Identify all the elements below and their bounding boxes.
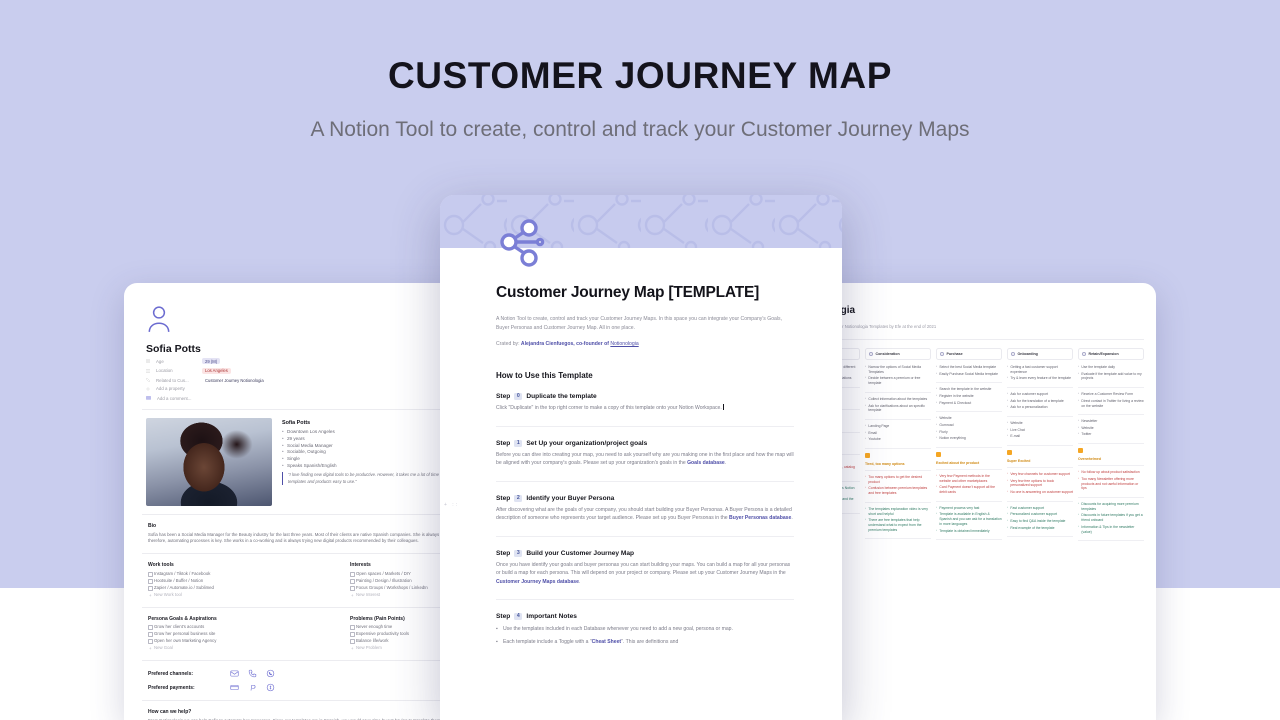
column-label: Onboarding — [1018, 352, 1038, 356]
emotion-label: Overwhelmed — [1078, 457, 1144, 461]
property-key: Related to Cus... — [156, 378, 196, 383]
cart-icon — [940, 352, 944, 356]
list-item[interactable]: Hootsuite / Buffer / Notion — [148, 578, 328, 583]
list-item: Flurly — [936, 430, 1002, 435]
list-item[interactable]: Grow her client's accounts — [148, 624, 328, 629]
step-header: Step 4 Important Notes — [496, 613, 794, 621]
list-item: Confusion between premium templates and … — [865, 486, 931, 496]
note-prefix: Each template include a Toggle with a " — [503, 639, 592, 645]
list-item: Fast customer support — [1007, 506, 1073, 511]
important-notes-list: Use the templates included in each Datab… — [496, 625, 794, 646]
phone-icon[interactable] — [248, 669, 257, 678]
list-item: Easy to find Q&A inside the template — [1007, 519, 1073, 524]
search-icon — [869, 352, 873, 356]
column-label: Purchase — [947, 352, 963, 356]
list-item: Website — [1007, 421, 1073, 426]
journey-board: Awareness Know about the options of the … — [794, 348, 1144, 545]
credit-author: Alejandra Cienfuegos, co-founder of — [521, 341, 609, 347]
emoji-icon — [936, 452, 941, 457]
list-item: No follow up about product satisfaction — [1078, 470, 1144, 475]
step-header: Step 1 Set Up your organization/project … — [496, 440, 794, 448]
whatsapp-icon[interactable] — [266, 669, 275, 678]
list-item: Search the template in the website — [936, 387, 1002, 392]
list-item: Real example of the template — [1007, 526, 1073, 531]
property-value: Customer Journey Notionologia — [202, 377, 267, 383]
cheat-sheet-link[interactable]: Cheat Sheet — [592, 639, 621, 645]
list-item: There are free templates that help under… — [865, 518, 931, 532]
list-item: Easily Purchase Social Media template — [936, 372, 1002, 377]
cell-goals[interactable]: Getting a fast customer support experien… — [1007, 365, 1073, 388]
step-word: Step — [496, 613, 510, 620]
step-header: Step 2 Identify your Buyer Persona — [496, 495, 794, 503]
hero-header: CUSTOMER JOURNEY MAP A Notion Tool to cr… — [0, 0, 1280, 142]
list-item: The templates explanation video is very … — [865, 507, 931, 517]
add-property-label: Add a property — [156, 386, 196, 391]
cell-goals[interactable]: Select the best Social Media template Ea… — [936, 365, 1002, 383]
cell-channels[interactable]: Website Live Chat E-mail — [1007, 421, 1073, 446]
paypal-icon[interactable] — [248, 683, 257, 692]
step-1: Step 1 Set Up your organization/project … — [496, 440, 794, 482]
list-item: Select the best Social Media template — [936, 365, 1002, 370]
step-body: After discovering what are the goals of … — [496, 506, 794, 523]
list-item: Very few Payment methods in the website … — [936, 474, 1002, 484]
cell-pain-points[interactable]: No follow up about product satisfaction … — [1078, 470, 1144, 498]
list-item: Try & learn every feature of the templat… — [1007, 376, 1073, 381]
how-to-heading: How to Use this Template — [496, 371, 794, 380]
template-title: Customer Journey Map [TEMPLATE] — [496, 284, 794, 302]
list-item[interactable]: Zapier / Automate.io / Sublimed — [148, 585, 328, 590]
step-header: Step 0 Duplicate the template — [496, 393, 794, 401]
cell-actions[interactable]: Search the template in the website Regis… — [936, 387, 1002, 412]
property-key: Location — [156, 368, 196, 373]
person-icon — [146, 305, 172, 333]
emotion-label: Excited about the product — [936, 461, 1002, 465]
step-title: Build your Customer Journey Map — [526, 550, 634, 557]
column-label: Retain/Expansion — [1089, 352, 1119, 356]
step-4: Step 4 Important Notes Use the templates… — [496, 613, 794, 647]
list-item: Each template include a Toggle with a "C… — [496, 638, 794, 646]
list-item: Payment process very fast — [936, 506, 1002, 511]
board-column-purchase: Purchase Select the best Social Media te… — [936, 348, 1002, 545]
cell-emotion[interactable]: Excited about the product — [936, 452, 1002, 470]
step-0: Step 0 Duplicate the template Click "Dup… — [496, 393, 794, 427]
template-description: A Notion Tool to create, control and tra… — [496, 315, 794, 333]
persona-photo — [146, 418, 272, 506]
emoji-icon — [1078, 448, 1083, 453]
list-item: Notion everything — [936, 436, 1002, 441]
step-title: Important Notes — [526, 613, 577, 620]
cell-emotion[interactable]: Tired, too many options — [865, 453, 931, 471]
step-number: 0 — [514, 393, 522, 400]
list-item: Register in the website — [936, 394, 1002, 399]
cell-opportunities[interactable]: Fast customer support Personalized custo… — [1007, 506, 1073, 538]
list-item: Gumroad — [936, 423, 1002, 428]
list-item: Website — [1078, 426, 1144, 431]
list-item: Collect information about the templates — [865, 397, 931, 402]
cell-channels[interactable]: Website Gumroad Flurly Notion everything — [936, 416, 1002, 448]
property-value: 29 (M) — [202, 358, 220, 364]
list-item: Personalized customer support — [1007, 512, 1073, 517]
list-item: Very few channels for customer support — [1007, 472, 1073, 477]
preferred-payments-label: Prefered payments: — [148, 685, 222, 691]
step-body-text: Once you have identify your goals and bu… — [496, 562, 790, 576]
list-item: Too many Newsletter offering more produc… — [1078, 477, 1144, 491]
step-body-tail: . — [725, 460, 726, 466]
step-body: Once you have identify your goals and bu… — [496, 561, 794, 586]
cell-channels[interactable]: Newsletter Website Twitter — [1078, 419, 1144, 444]
list-item: Use the template daily — [1078, 365, 1144, 370]
credit-prefix: Crated by: — [496, 341, 520, 347]
card-icon[interactable] — [230, 683, 239, 692]
list-item: Template is available in English & Spani… — [936, 512, 1002, 526]
cell-emotion[interactable]: Super Excited — [1007, 450, 1073, 468]
cell-channels[interactable]: Landing Page Email Youtube — [865, 424, 931, 449]
credit-link[interactable]: Notionologia — [610, 341, 638, 347]
hash-icon — [146, 359, 150, 363]
list-item: Ask for customer support — [1007, 392, 1073, 397]
refresh-icon — [1082, 352, 1086, 356]
list-item: Payment & Checkout — [936, 401, 1002, 406]
emoji-icon — [1007, 450, 1012, 455]
cell-emotion[interactable]: Overwhelmed — [1078, 448, 1144, 466]
emotion-label: Super Excited — [1007, 459, 1073, 463]
page-side-handle[interactable]: + :: — [444, 502, 459, 508]
add-comment-placeholder: Add a comment... — [157, 396, 191, 401]
list-item: Direct contact in Twitter for living a r… — [1078, 399, 1144, 409]
list-icon — [146, 369, 150, 373]
column-header[interactable]: Onboarding — [1007, 348, 1073, 360]
step-3: Step 3 Build your Customer Journey Map O… — [496, 550, 794, 600]
step-title: Set Up your organization/project goals — [526, 440, 647, 447]
template-page-card[interactable]: Customer Journey Map [TEMPLATE] A Notion… — [440, 195, 842, 720]
column-heading: Persona Goals & Aspirations — [148, 616, 328, 622]
step-body-tail: . — [791, 515, 792, 521]
column-heading: Work tools — [148, 562, 328, 568]
cell-goals[interactable]: Narrow the options of Social Media Templ… — [865, 365, 931, 393]
list-item: Ask for a personalization — [1007, 405, 1073, 410]
step-body-tail: . — [579, 579, 580, 585]
step-body-text: Before you can dive into creating your m… — [496, 452, 794, 466]
plus-icon — [146, 387, 150, 391]
work-tools-column: Work tools Instagram / Tiktok / Facebook… — [148, 562, 328, 599]
template-credit: Crated by: Alejandra Cienfuegos, co-foun… — [496, 341, 794, 347]
list-item[interactable]: Open her own Marketing Agency — [148, 638, 328, 643]
list-item: Card Payment doesn't support all the deb… — [936, 485, 1002, 495]
text-cursor — [723, 404, 724, 410]
list-item: Landing Page — [865, 424, 931, 429]
list-item: Template is obtained immediately — [936, 529, 1002, 534]
list-item: Decide between a premium or free templat… — [865, 376, 931, 386]
list-item: Twitter — [1078, 432, 1144, 437]
column-header[interactable]: Purchase — [936, 348, 1002, 360]
list-item[interactable]: Instagram / Tiktok / Facebook — [148, 571, 328, 576]
step-number: 3 — [514, 550, 522, 557]
list-item: No one is answering on customer support — [1007, 490, 1073, 495]
link-icon — [146, 378, 150, 382]
gear-icon — [1011, 352, 1015, 356]
divider — [496, 426, 794, 427]
step-header: Step 3 Build your Customer Journey Map — [496, 550, 794, 558]
board-title: Notionologia — [794, 305, 1144, 316]
list-item: E-mail — [1007, 434, 1073, 439]
board-subtitle: Customer Journey Map for Notionologia Te… — [794, 324, 1144, 329]
step-word: Step — [496, 550, 510, 557]
list-item: Too many options to get the desired prod… — [865, 475, 931, 485]
cell-pain-points[interactable]: Very few Payment methods in the website … — [936, 474, 1002, 502]
property-value: Los Angeles — [202, 368, 231, 374]
column-header[interactable]: Consideration — [865, 348, 931, 360]
column-header[interactable]: Retain/Expansion — [1078, 348, 1144, 360]
cell-pain-points[interactable]: Very few channels for customer support V… — [1007, 472, 1073, 502]
list-item: Website — [936, 416, 1002, 421]
cell-goals[interactable]: Use the template daily Evaluate if the t… — [1078, 365, 1144, 388]
list-item: Receive a Customer Review Form — [1078, 392, 1144, 397]
list-item: Very few free options to book personaliz… — [1007, 479, 1073, 489]
page-subtitle: A Notion Tool to create, control and tra… — [0, 118, 1280, 142]
page-title: CUSTOMER JOURNEY MAP — [0, 55, 1280, 97]
cell-opportunities[interactable]: Payment process very fast Template is av… — [936, 506, 1002, 541]
add-work-tool[interactable]: New Work tool — [148, 592, 328, 597]
list-item: Ask for the translation of a template — [1007, 399, 1073, 404]
cell-actions[interactable]: Receive a Customer Review Form Direct co… — [1078, 392, 1144, 415]
list-item: Newsletter — [1078, 419, 1144, 424]
note-suffix: ". This are definitions and — [621, 639, 678, 645]
step-number: 1 — [514, 440, 522, 447]
list-item: Evaluate if the template add value to my… — [1078, 372, 1144, 382]
buyer-personas-database-link[interactable]: Buyer Personas database — [729, 515, 791, 521]
add-goal[interactable]: New Goal — [148, 645, 328, 650]
divider — [794, 339, 1144, 340]
list-item[interactable]: Grow her personal business site — [148, 631, 328, 636]
step-body: Click "Duplicate" in the top right corne… — [496, 404, 794, 412]
emotion-label: Tired, too many options — [865, 462, 931, 466]
list-item: Narrow the options of Social Media Templ… — [865, 365, 931, 375]
cell-pain-points[interactable]: Too many options to get the desired prod… — [865, 475, 931, 503]
step-number: 4 — [514, 613, 522, 620]
goals-database-link[interactable]: Goals database — [687, 460, 725, 466]
goals-column: Persona Goals & Aspirations Grow her cli… — [148, 616, 328, 653]
cell-opportunities[interactable]: The templates explanation video is very … — [865, 507, 931, 540]
list-item: Use the templates included in each Datab… — [496, 625, 794, 633]
emoji-icon — [865, 453, 870, 458]
list-item: Live Chat — [1007, 428, 1073, 433]
step-word: Step — [496, 495, 510, 502]
divider — [496, 481, 794, 482]
step-word: Step — [496, 440, 510, 447]
step-number: 2 — [514, 495, 522, 502]
mail-icon[interactable] — [230, 669, 239, 678]
customer-journey-maps-database-link[interactable]: Customer Journey Maps database — [496, 579, 579, 585]
preferred-channels-label: Prefered channels: — [148, 671, 222, 677]
board-column-retain-expansion: Retain/Expansion Use the template daily … — [1078, 348, 1144, 545]
step-body: Before you can dive into creating your m… — [496, 451, 794, 468]
step-body-text: Click "Duplicate" in the top right corne… — [496, 405, 722, 411]
list-item: Ask for clarifications about an specific… — [865, 404, 931, 414]
cell-opportunities[interactable]: Discounts for acquiring more premium tem… — [1078, 502, 1144, 541]
divider — [496, 599, 794, 600]
list-item: Youtube — [865, 437, 931, 442]
step-2: Step 2 Identify your Buyer Persona After… — [496, 495, 794, 537]
step-title: Identify your Buyer Persona — [526, 495, 614, 502]
step-title: Duplicate the template — [526, 393, 596, 400]
list-item: Discounts for acquiring more premium tem… — [1078, 502, 1144, 512]
cell-actions[interactable]: Ask for customer support Ask for the tra… — [1007, 392, 1073, 417]
column-label: Consideration — [876, 352, 900, 356]
list-item: Getting a fast customer support experien… — [1007, 365, 1073, 375]
property-key: Age — [156, 359, 196, 364]
share-network-icon — [496, 215, 548, 267]
board-column-onboarding: Onboarding Getting a fast customer suppo… — [1007, 348, 1073, 545]
cell-actions[interactable]: Collect information about the templates … — [865, 397, 931, 420]
divider — [496, 536, 794, 537]
cash-icon[interactable] — [266, 683, 275, 692]
list-item: Information & Tips in the newsletter (va… — [1078, 525, 1144, 535]
list-item: Discounts in future templates if you get… — [1078, 513, 1144, 523]
board-column-consideration: Consideration Narrow the options of Soci… — [865, 348, 931, 545]
step-word: Step — [496, 393, 510, 400]
comment-icon — [146, 396, 151, 401]
list-item: Email — [865, 431, 931, 436]
